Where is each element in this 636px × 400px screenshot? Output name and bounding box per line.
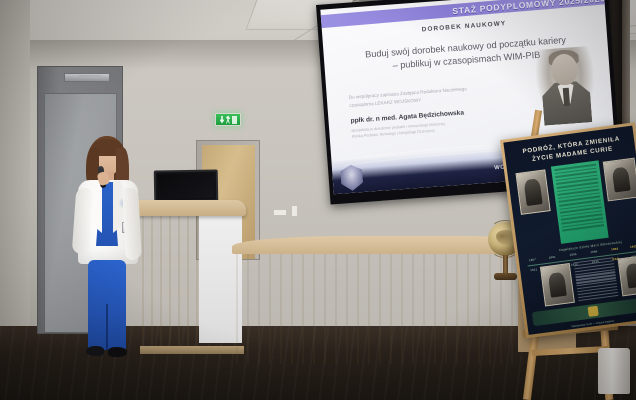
timeline-label-highlight: 1903 [611,247,618,252]
timeline-label: 1921 [530,267,537,272]
wall-outlet[interactable] [273,209,287,216]
poster-frame: PODRÓŻ, KTÓRA ZMIENIŁA ŻYCIE MADAME CURI… [500,122,636,338]
timeline-label: 1895 [569,252,576,257]
photo-figure [548,272,567,298]
poster-photo [515,169,550,215]
front-desk [232,236,522,364]
screenshot-root: STAŻ PODYPLOMOWY 2025/2026 DOROBEK NAUKO… [0,0,636,400]
emergency-exit-icon [215,113,241,126]
slide-credit: Do współpracy zaprasza Zastępca Redaktor… [349,81,532,110]
timeline-label: 1867 [529,257,536,262]
slide-banner-text: STAŻ PODYPLOMOWY 2025/2026 [452,0,606,16]
timeline-label-highlight: 1911 [630,244,636,249]
presenter-standing [62,136,150,364]
left-wall [0,0,30,360]
lectern-top [136,200,246,216]
desk-body [236,252,518,364]
shoe-right [108,347,127,357]
arm-right [122,188,142,261]
photo-figure [524,178,543,205]
poster-body-text [574,257,619,304]
door-closer-arm [79,75,101,78]
exhibition-poster[interactable]: PODRÓŻ, KTÓRA ZMIENIŁA ŻYCIE MADAME CURI… [500,122,636,338]
laptop-screen [158,174,214,199]
trouser-seam [106,304,108,350]
slide-portrait-photo [534,46,598,128]
lectern-front-panel [142,215,200,348]
door-icon [232,116,237,124]
easel-crossbar [532,346,608,356]
desk-top [232,236,522,254]
portrait-tie [563,88,570,106]
timeline-label: 1898 [590,249,597,254]
presenter-laptop[interactable] [154,169,219,202]
door-closer-icon [64,73,110,82]
poster-photo [603,158,636,202]
photo-figure [611,166,631,192]
poster-surface: PODRÓŻ, KTÓRA ZMIENIŁA ŻYCIE MADAME CURI… [503,126,636,335]
wall-switch[interactable] [291,205,298,217]
poster-photo [540,263,575,307]
photo-figure [625,263,636,288]
poster-highlight-panel [551,160,609,244]
waste-bin [598,348,630,394]
exit-sign-glyphs [220,116,237,124]
lectern-base [140,346,244,354]
running-man-icon [226,116,231,124]
poster-seal-icon [588,306,599,317]
lectern [142,200,238,350]
shoe-left [86,346,104,356]
timeline-label: 1891 [549,255,556,260]
arrow-down-icon [220,116,225,124]
poster-photo [617,255,636,296]
